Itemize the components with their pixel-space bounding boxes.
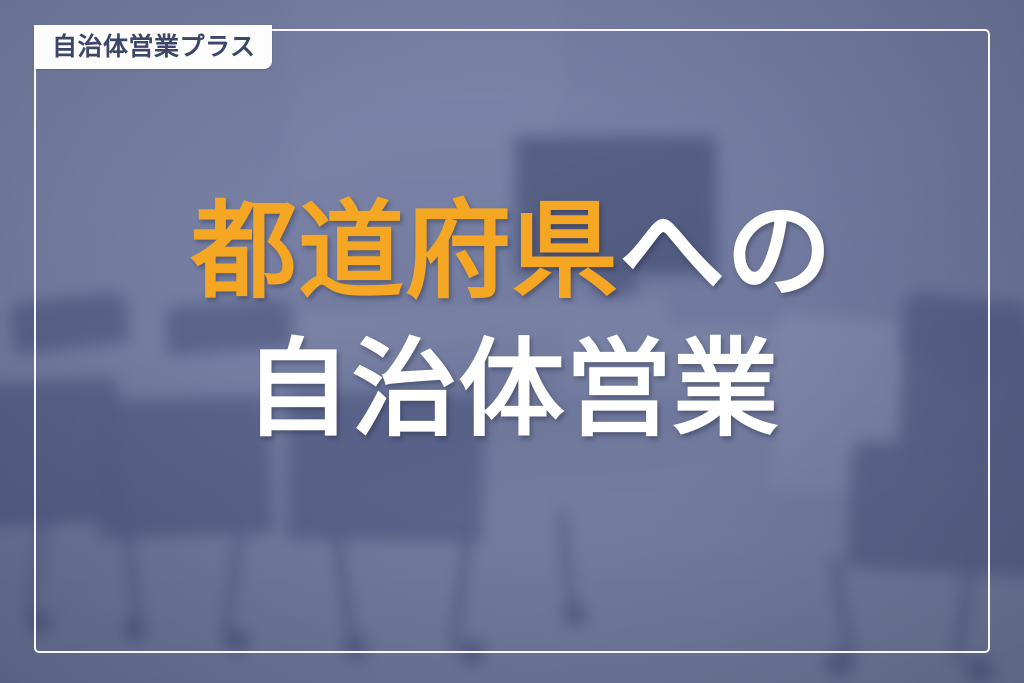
headline-line-1: 都道府県への — [0, 198, 1024, 306]
headline-accent-text: 都道府県 — [191, 193, 619, 311]
banner: 自治体営業プラス 都道府県への 自治体営業 — [0, 0, 1024, 683]
headline-line-2: 自治体営業 — [0, 336, 1024, 444]
headline: 都道府県への 自治体営業 — [0, 198, 1024, 444]
headline-line-1-suffix: への — [619, 193, 833, 311]
badge-tab: 自治体営業プラス — [34, 25, 272, 69]
badge-label: 自治体営業プラス — [52, 35, 256, 60]
